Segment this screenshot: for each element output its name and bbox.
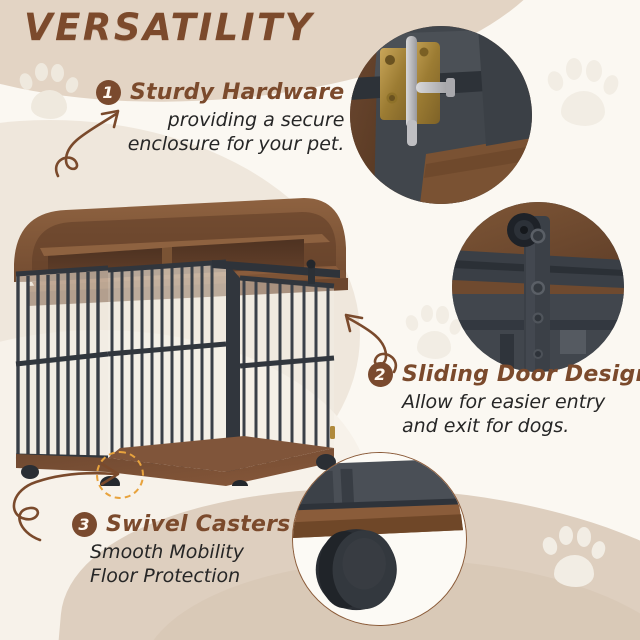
product-illustration [4,186,356,486]
feature-1-line-1: providing a secure [96,108,344,132]
feature-2-heading: 2 Sliding Door Design [368,362,640,387]
feature-3-line-2: Floor Protection [90,564,290,588]
feature-2-line-1: Allow for easier entry [402,390,640,414]
feature-1-line-2: enclosure for your pet. [96,132,344,156]
feature-3-number-badge: 3 [72,512,97,537]
feature-swivel-casters: 3 Swivel Casters Smooth Mobility Floor P… [72,512,290,589]
page-title: VERSATILITY [24,6,314,49]
feature-sturdy-hardware: 1 Sturdy Hardware providing a secure enc… [96,80,344,157]
feature-2-description: Allow for easier entry and exit for dogs… [402,390,640,439]
feature-sliding-door-design: 2 Sliding Door Design Allow for easier e… [368,362,640,439]
feature-1-description: providing a secure enclosure for your pe… [96,108,344,157]
caster-wheel-photo [292,452,467,626]
hinge-latch-photo [350,26,532,204]
feature-2-number-badge: 2 [368,362,393,387]
feature-2-title: Sliding Door Design [402,362,640,387]
infographic-canvas: VERSATILITY [0,0,640,640]
feature-3-description: Smooth Mobility Floor Protection [90,540,290,589]
feature-3-line-1: Smooth Mobility [90,540,290,564]
feature-1-heading: 1 Sturdy Hardware [96,80,344,105]
feature-1-number-badge: 1 [96,80,121,105]
feature-3-title: Swivel Casters [106,512,290,537]
feature-2-line-2: and exit for dogs. [402,414,640,438]
paw-print-icon [545,52,621,130]
sliding-roller-photo [452,202,624,372]
feature-3-heading: 3 Swivel Casters [72,512,290,537]
paw-print-icon [540,520,608,590]
paw-print-icon [18,58,80,122]
feature-1-title: Sturdy Hardware [130,80,344,105]
caster-highlight-ring [96,451,144,499]
